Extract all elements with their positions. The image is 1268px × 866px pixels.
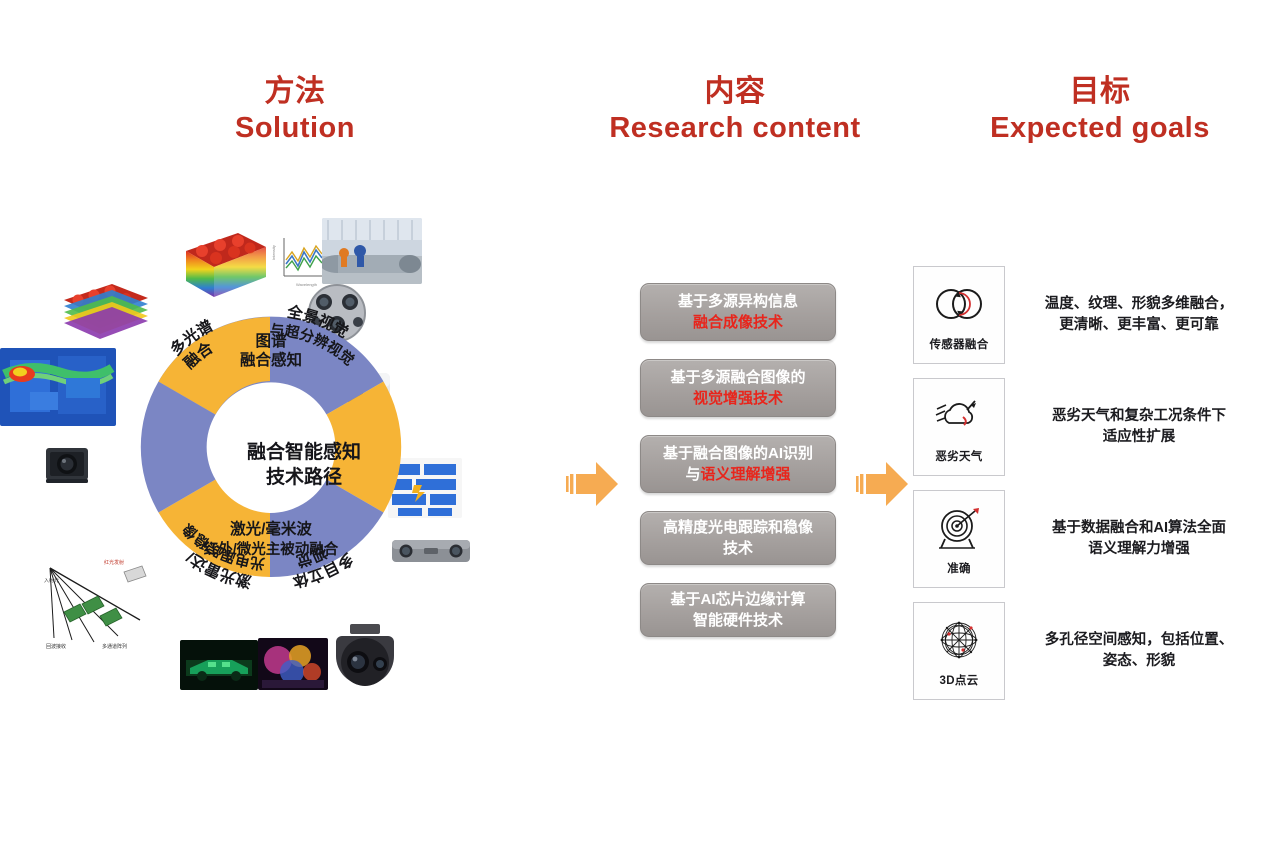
column-header-solution-zh: 方法	[170, 74, 420, 111]
arrow-content-to-goals	[856, 458, 912, 510]
thermal-image-thumb	[0, 348, 116, 426]
goal-caption-2: 恶劣天气	[935, 448, 982, 464]
sensor-fusion-icon	[931, 279, 987, 329]
segment-label-bottom-line1: 激光/毫米波	[230, 519, 312, 538]
research-content-item-3[interactable]: 基于融合图像的AI识别 与语义理解增强	[640, 435, 836, 493]
goal-desc-2-line2: 适应性扩展	[1023, 427, 1255, 448]
column-header-content-zh: 内容	[575, 74, 895, 111]
goal-card-sensor-fusion[interactable]: 传感器融合	[913, 266, 1005, 364]
research-content-item-1[interactable]: 基于多源异构信息 融合成像技术	[640, 283, 836, 341]
research-content-item-5[interactable]: 基于AI芯片边缘计算 智能硬件技术	[640, 583, 836, 637]
research-item-5-line1: 基于AI芯片边缘计算	[670, 591, 805, 608]
arrow-solution-to-content	[566, 458, 622, 510]
point-cloud-icon	[936, 615, 982, 665]
bad-weather-icon	[933, 391, 985, 441]
column-header-goals-en: Expected goals	[940, 111, 1260, 146]
goal-card-point-cloud[interactable]: 3D点云	[913, 602, 1005, 700]
night-vision-thumb	[180, 640, 258, 690]
goal-row-2: 恶劣天气 恶劣天气和复杂工况条件下 适应性扩展	[913, 378, 1263, 476]
goal-desc-3-line1: 基于数据融合和AI算法全面	[1023, 518, 1255, 539]
thermal-camera-thumb	[40, 438, 98, 488]
wheel-center-label: 融合智能感知 技术路径	[216, 440, 392, 491]
column-header-solution: 方法 Solution	[170, 74, 420, 146]
svg-text:回波接收: 回波接收	[46, 643, 66, 650]
goal-desc-2-line1: 恶劣天气和复杂工况条件下	[1023, 406, 1255, 427]
expected-goals-list: 传感器融合 温度、纹理、形貌多维融合， 更清晰、更丰富、更可靠	[913, 266, 1263, 714]
research-content-item-4[interactable]: 高精度光电跟踪和稳像 技术	[640, 511, 836, 565]
segment-label-top-line2: 融合感知	[240, 350, 302, 369]
goal-card-accuracy[interactable]: 准确	[913, 490, 1005, 588]
goal-card-bad-weather[interactable]: 恶劣天气	[913, 378, 1005, 476]
goal-desc-4-line1: 多孔径空间感知，包括位置、	[1023, 630, 1255, 651]
svg-text:入射光: 入射光	[44, 577, 59, 584]
research-item-3-line2-prefix: 与	[685, 466, 700, 483]
column-header-content: 内容 Research content	[575, 74, 895, 146]
research-content-list: 基于多源异构信息 融合成像技术 基于多源融合图像的 视觉增强技术 基于融合图像的…	[640, 283, 840, 655]
goal-row-4: 3D点云 多孔径空间感知，包括位置、 姿态、形貌	[913, 602, 1263, 700]
research-item-4-line2: 技术	[723, 540, 753, 557]
research-item-2-line2: 视觉增强技术	[693, 390, 783, 407]
goal-desc-1: 温度、纹理、形貌多维融合， 更清晰、更丰富、更可靠	[1023, 294, 1255, 336]
pipeline-inspection-thumb	[322, 218, 422, 284]
research-item-4-line1: 高精度光电跟踪和稳像	[663, 519, 813, 536]
goal-desc-1-line1: 温度、纹理、形貌多维融合，	[1023, 294, 1255, 315]
goal-caption-3: 准确	[947, 560, 971, 576]
target-accuracy-icon	[935, 503, 983, 553]
column-header-solution-en: Solution	[170, 111, 420, 146]
svg-text:多通道阵列: 多通道阵列	[102, 643, 127, 650]
goal-desc-3-line2: 语义理解力增强	[1023, 539, 1255, 560]
research-item-3-line2-highlight: 语义理解增强	[700, 466, 790, 483]
research-item-5-line2: 智能硬件技术	[693, 612, 783, 629]
goal-desc-1-line2: 更清晰、更丰富、更可靠	[1023, 315, 1255, 336]
goal-desc-3: 基于数据融合和AI算法全面 语义理解力增强	[1023, 518, 1255, 560]
goal-desc-4: 多孔径空间感知，包括位置、 姿态、形貌	[1023, 630, 1255, 672]
gimbal-camera-thumb	[328, 620, 402, 698]
research-item-1-line2: 融合成像技术	[693, 314, 783, 331]
wheel-center-line1: 融合智能感知	[216, 440, 392, 465]
solution-wheel-area: Intensity Wavelength	[0, 200, 540, 740]
column-header-goals: 目标 Expected goals	[940, 74, 1260, 146]
research-item-3-line1: 基于融合图像的AI识别	[663, 445, 813, 462]
research-item-2-line1: 基于多源融合图像的	[670, 369, 805, 386]
goal-desc-4-line2: 姿态、形貌	[1023, 651, 1255, 672]
column-header-content-en: Research content	[575, 111, 895, 146]
goal-caption-4: 3D点云	[940, 672, 979, 688]
column-header-goals-zh: 目标	[940, 74, 1260, 111]
goal-row-3: 准确 基于数据融合和AI算法全面 语义理解力增强	[913, 490, 1263, 588]
goal-row-1: 传感器融合 温度、纹理、形貌多维融合， 更清晰、更丰富、更可靠	[913, 266, 1263, 364]
wheel-center-line2: 技术路径	[216, 465, 392, 490]
research-item-1-line1: 基于多源异构信息	[678, 293, 798, 310]
research-content-item-2[interactable]: 基于多源融合图像的 视觉增强技术	[640, 359, 836, 417]
svg-text:Intensity: Intensity	[272, 245, 276, 260]
goal-desc-2: 恶劣天气和复杂工况条件下 适应性扩展	[1023, 406, 1255, 448]
goal-caption-1: 传感器融合	[930, 336, 989, 352]
fused-night-thumb	[258, 638, 328, 690]
